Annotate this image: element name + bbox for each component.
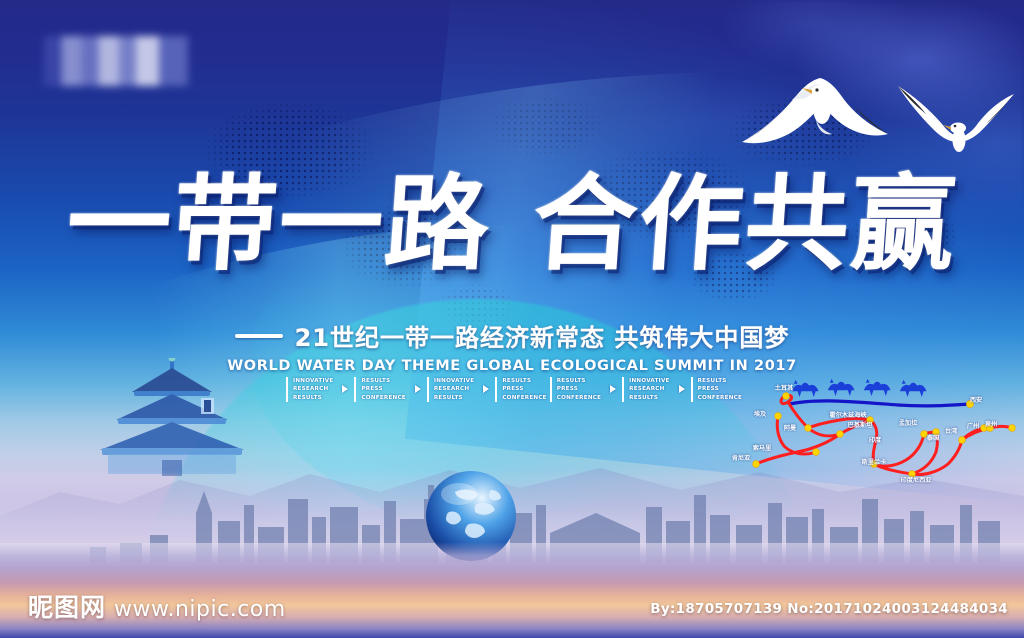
route-map-label: 泰国 — [927, 433, 939, 442]
route-map-label: 肯尼亚 — [732, 453, 751, 462]
route-map-label: 西安 — [970, 395, 982, 404]
process-chip-line: CONFERENCE — [698, 394, 742, 402]
process-chip: INNOVATIVERESEARCHRESULTS — [286, 377, 333, 402]
process-chip: INNOVATIVERESEARCHRESULTS — [427, 377, 474, 402]
process-chip-line: PRESS — [361, 385, 405, 393]
redacted-logo-watermark — [44, 36, 188, 86]
process-chip-text: RESULTSPRESSCONFERENCE — [698, 377, 742, 402]
process-chip-line: PRESS — [557, 385, 601, 393]
process-arrow-icon — [342, 385, 348, 393]
route-map-label: 阿曼 — [784, 423, 796, 432]
process-chip-text: RESULTSPRESSCONFERENCE — [557, 377, 601, 402]
process-chip: RESULTSPRESSCONFERENCE — [550, 377, 601, 402]
process-chip-line: RESULTS — [698, 377, 742, 385]
process-chip-line: PRESS — [502, 385, 546, 393]
process-chip-text: RESULTSPRESSCONFERENCE — [502, 377, 546, 402]
process-arrow-icon — [610, 385, 616, 393]
subtitle-chinese-row: 21世纪一带一路经济新常态 共筑伟大中国梦 — [235, 318, 790, 353]
route-map-label: 土耳其 — [775, 383, 794, 392]
process-chip: RESULTSPRESSCONFERENCE — [354, 377, 405, 402]
process-arrow-icon — [415, 385, 421, 393]
route-map-label: 泉州 — [985, 419, 997, 428]
subtitle-rule-left — [235, 334, 283, 338]
route-map-label: 索马里 — [753, 443, 772, 452]
process-chip-text: RESULTSPRESSCONFERENCE — [361, 377, 405, 402]
process-chip-line: INNOVATIVE — [293, 377, 333, 385]
route-map-label: 霍尔木兹海峡 — [829, 410, 866, 419]
seagull-icon — [888, 72, 1022, 158]
route-map-label: 巴基斯坦 — [848, 420, 873, 429]
process-arrow-icon — [483, 385, 489, 393]
process-chip-text: INNOVATIVERESEARCHRESULTS — [434, 377, 474, 402]
route-map-label: 台湾 — [945, 426, 957, 435]
image-id-watermark: By:18705707139 No:20171024003124484034 — [650, 601, 1008, 617]
route-map-label: 印度 — [869, 435, 881, 444]
camel-caravan-icon — [792, 379, 927, 397]
process-chip-line: CONFERENCE — [502, 394, 546, 402]
site-watermark: 昵图网 www.nipic.com — [28, 588, 286, 624]
process-chip-line: RESEARCH — [629, 385, 669, 393]
subtitle-block: 21世纪一带一路经济新常态 共筑伟大中国梦 WORLD WATER DAY TH… — [0, 318, 1024, 374]
process-arrow-icon — [679, 385, 685, 393]
process-chip-line: RESULTS — [629, 394, 669, 402]
site-watermark-url: www.nipic.com — [114, 597, 286, 622]
process-chip-line: RESULTS — [361, 377, 405, 385]
process-chip: RESULTSPRESSCONFERENCE — [495, 377, 546, 402]
process-chip-line: RESULTS — [557, 377, 601, 385]
poster-canvas: 一带一路 合作共赢 21世纪一带一路经济新常态 共筑伟大中国梦 WORLD WA… — [0, 0, 1024, 638]
process-chip-line: RESEARCH — [434, 385, 474, 393]
process-chip-line: RESULTS — [502, 377, 546, 385]
process-chip-text: INNOVATIVERESEARCHRESULTS — [293, 377, 333, 402]
process-chip-line: RESULTS — [434, 394, 474, 402]
process-chip-line: INNOVATIVE — [629, 377, 669, 385]
land-route-line — [790, 401, 970, 406]
process-chip-line: INNOVATIVE — [434, 377, 474, 385]
route-map-label: 斯里兰卡 — [862, 457, 887, 466]
process-chip-row: INNOVATIVERESEARCHRESULTSRESULTSPRESSCON… — [286, 377, 745, 402]
process-chip-line: PRESS — [698, 385, 742, 393]
subtitle-chinese: 21世纪一带一路经济新常态 共筑伟大中国梦 — [295, 318, 790, 353]
process-chip-line: RESULTS — [293, 394, 333, 402]
process-chip: INNOVATIVERESEARCHRESULTS — [622, 377, 669, 402]
process-chip-line: RESEARCH — [293, 385, 333, 393]
route-map-label: 孟加拉 — [899, 418, 918, 427]
route-map-label: 印度尼西亚 — [901, 475, 932, 484]
process-chip-line: CONFERENCE — [361, 394, 405, 402]
site-watermark-cn: 昵图网 — [28, 588, 106, 624]
route-map-label: 埃及 — [754, 409, 766, 418]
route-map-label: 广州 — [967, 421, 979, 430]
process-chip-line: CONFERENCE — [557, 394, 601, 402]
process-chip: RESULTSPRESSCONFERENCE — [691, 377, 742, 402]
seagull-icon — [728, 46, 908, 156]
process-chip-text: INNOVATIVERESEARCHRESULTS — [629, 377, 669, 402]
belt-and-road-route-map: 土耳其埃及阿曼索马里肯尼亚霍尔木兹海峡巴基斯坦印度斯里兰卡孟加拉泰国印度尼西亚台… — [748, 372, 1024, 484]
